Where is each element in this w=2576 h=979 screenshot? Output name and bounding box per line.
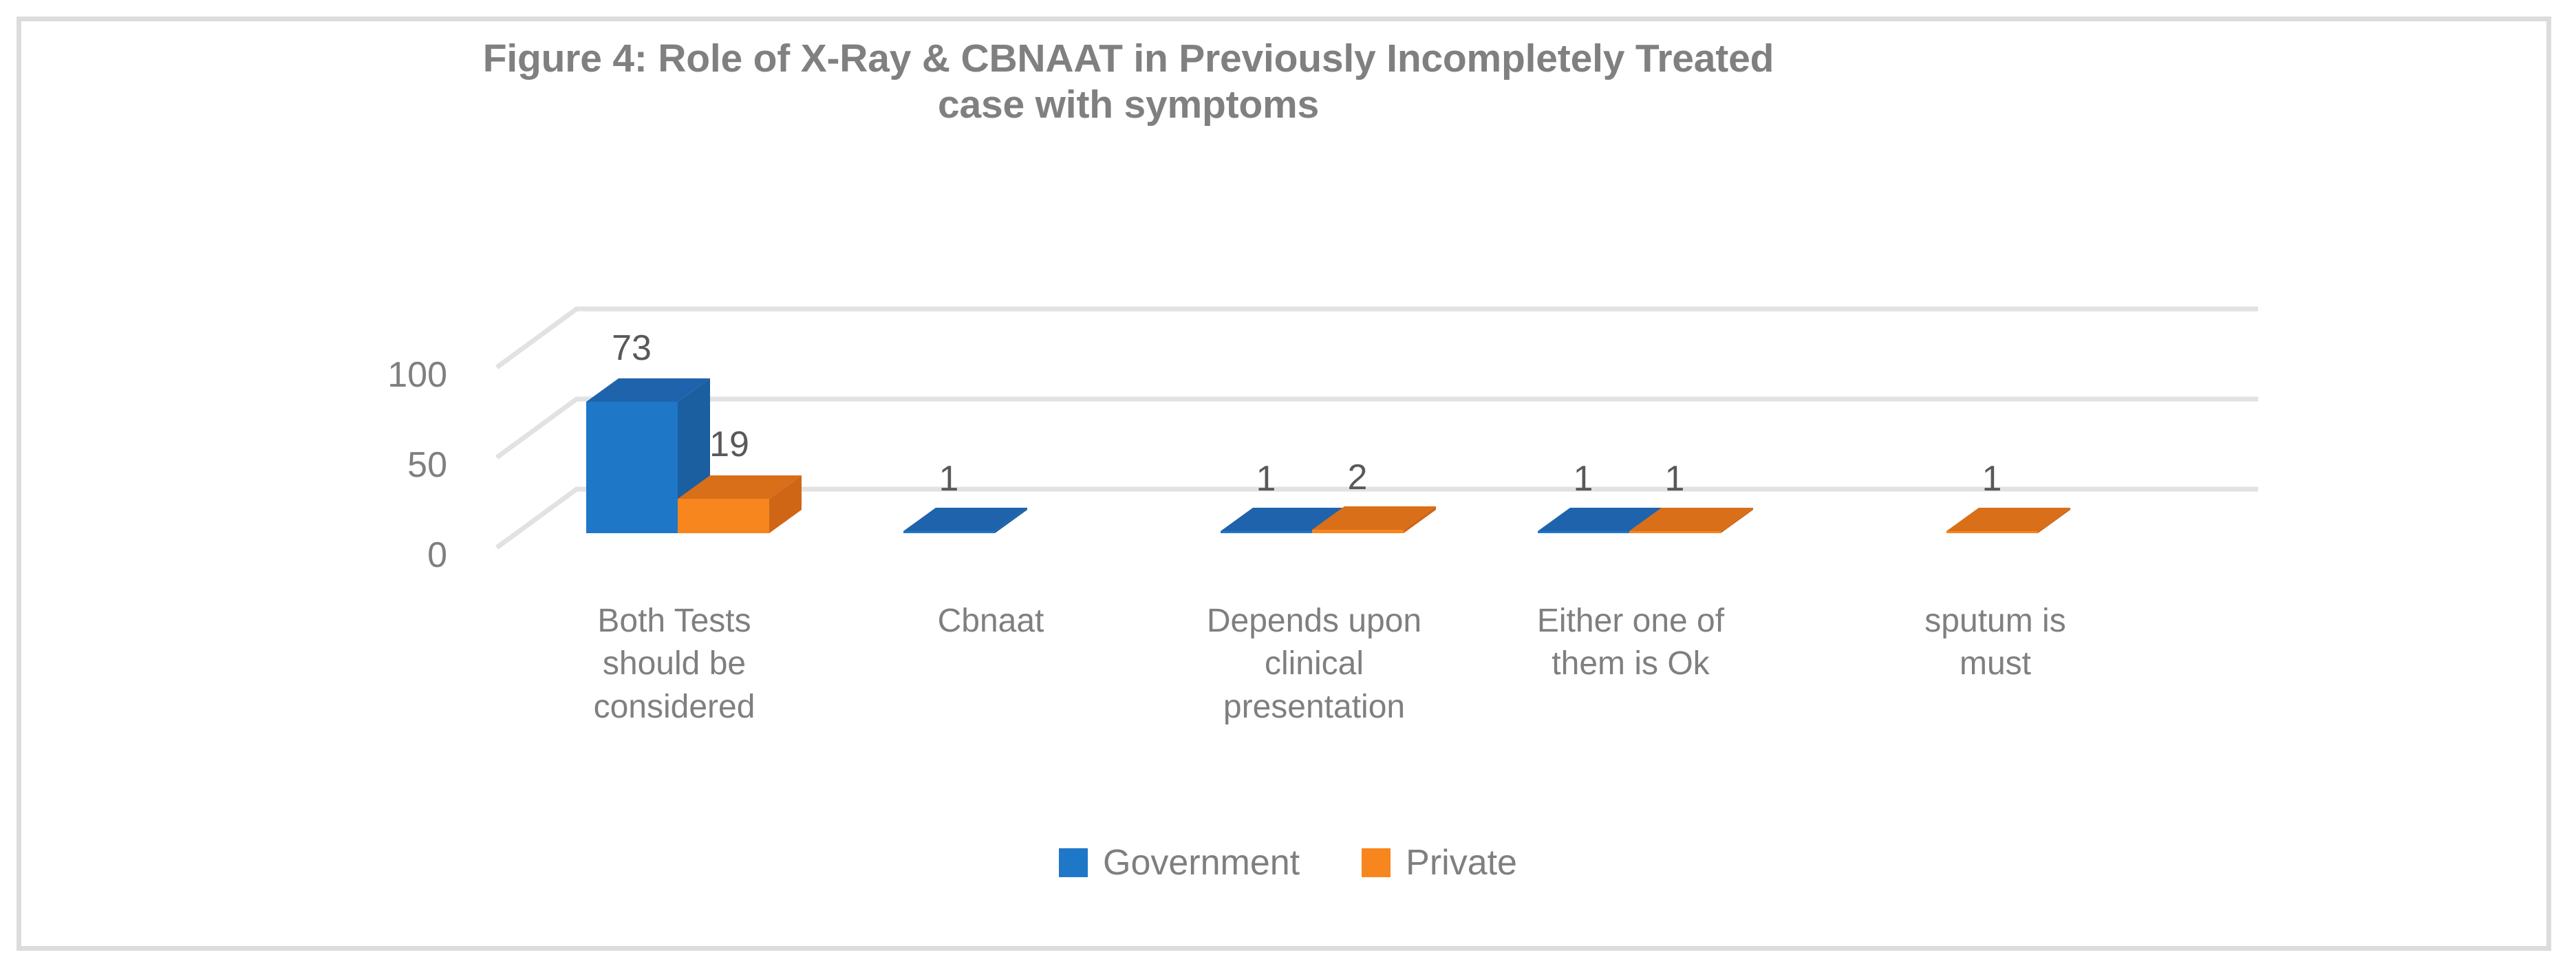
data-label-private-3: 1 [1654,461,1695,497]
bar-front-face [586,402,678,533]
category-label-either-one-of-them-is-ok: Either one of them is Ok [1486,600,1775,686]
legend-item-private[interactable]: Private [1362,845,1517,881]
data-label-government-2: 1 [1245,461,1287,497]
category-label-sputum-is-must: sputum is must [1858,600,2133,686]
plot-area: 100 50 0 73 19 1 1 2 1 1 1 Both Tests sh… [0,0,2576,979]
legend-item-government[interactable]: Government [1059,845,1300,881]
gridline-100 [497,309,2258,367]
bar-private-4 [1946,508,2070,533]
chart-canvas [0,0,2576,979]
bar-government-1 [903,508,1027,533]
legend-swatch-icon-private [1362,848,1391,877]
data-label-government-0: 73 [590,330,673,366]
legend-label-private: Private [1406,845,1517,881]
data-label-private-2: 2 [1337,460,1378,495]
bar-front-face [1312,530,1404,533]
data-label-private-4: 1 [1971,461,2012,497]
bar-front-face [678,499,769,533]
chart-legend: Government Private [0,845,2576,881]
bar-top-face [1946,508,2070,531]
category-label-depends-upon-clinical-presentation: Depends upon clinical presentation [1163,600,1466,729]
data-label-government-1: 1 [928,461,969,497]
bar-front-face [1629,531,1721,533]
data-label-government-3: 1 [1563,461,1604,497]
category-label-cbnaat: Cbnaat [853,600,1128,643]
figure-page: Figure 4: Role of X-Ray & CBNAAT in Prev… [0,0,2576,979]
category-label-both-tests: Both Tests should be considered [537,600,812,729]
data-label-private-0: 19 [688,427,771,462]
bar-front-face [1221,531,1312,533]
bar-top-face [903,508,1027,531]
legend-swatch-icon-government [1059,848,1088,877]
y-axis-tick-100: 100 [282,357,447,393]
bar-front-face [1946,531,2038,533]
bar-front-face [1538,531,1629,533]
y-axis-tick-0: 0 [282,537,447,573]
y-axis-tick-50: 50 [282,447,447,483]
legend-label-government: Government [1103,845,1300,881]
bar-front-face [903,531,995,533]
